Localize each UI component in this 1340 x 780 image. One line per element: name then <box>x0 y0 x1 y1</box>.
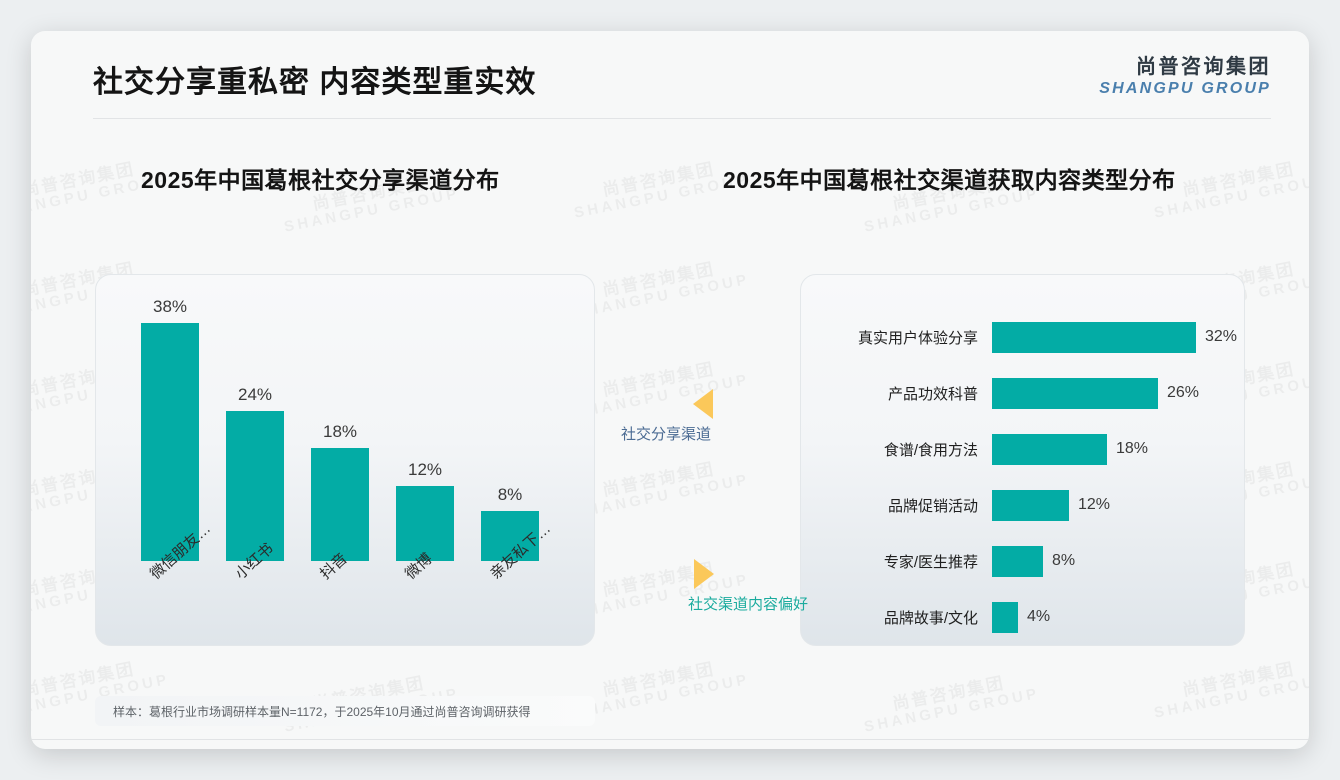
watermark-text: 尚普咨询集团SHANGPU GROUP <box>569 254 751 321</box>
vertical-bar <box>396 486 454 561</box>
bar-value-label: 12% <box>1078 496 1110 514</box>
horizontal-bar <box>992 322 1196 353</box>
horizontal-bar-row: 品牌促销活动12% <box>800 486 1245 524</box>
right-bar-chart: 真实用户体验分享32%产品功效科普26%食谱/食用方法18%品牌促销活动12%专… <box>800 274 1245 646</box>
bar-value-label: 8% <box>1052 552 1075 570</box>
annotation-content-preference: 社交渠道内容偏好 <box>688 559 808 614</box>
horizontal-bar-row: 专家/医生推荐8% <box>800 542 1245 580</box>
right-chart-title: 2025年中国葛根社交渠道获取内容类型分布 <box>723 161 1176 195</box>
annotation-label-2: 社交渠道内容偏好 <box>688 593 808 614</box>
vertical-bar <box>311 448 369 561</box>
horizontal-bar-row: 真实用户体验分享32% <box>800 318 1245 356</box>
bar-value-label: 4% <box>1027 608 1050 626</box>
vertical-bar <box>226 411 284 561</box>
watermark-text: 尚普咨询集团SHANGPU GROUP <box>569 654 751 721</box>
vertical-bar-group: 24% <box>226 385 284 561</box>
bar-value-label: 26% <box>1167 384 1199 402</box>
bar-value-label: 24% <box>238 385 272 405</box>
vertical-bar <box>141 323 199 561</box>
bar-value-label: 8% <box>498 485 523 505</box>
bar-value-label: 18% <box>1116 440 1148 458</box>
watermark-text: 尚普咨询集团SHANGPU GROUP <box>859 668 1041 735</box>
left-chart-title: 2025年中国葛根社交分享渠道分布 <box>141 161 500 195</box>
brand-logo: 尚普咨询集团 SHANGPU GROUP <box>1099 55 1271 100</box>
left-bar-chart: 38%微信朋友…24%小红书18%抖音12%微博8%亲友私下… <box>95 274 595 646</box>
category-label: 专家/医生推荐 <box>800 551 992 572</box>
vertical-bar-group: 18% <box>311 422 369 561</box>
triangle-left-icon <box>693 389 713 419</box>
sample-footnote: 样本：葛根行业市场调研样本量N=1172，于2025年10月通过尚普咨询调研获得 <box>95 696 595 726</box>
horizontal-bar-row: 品牌故事/文化4% <box>800 598 1245 636</box>
category-label: 品牌促销活动 <box>800 495 992 516</box>
horizontal-bar-row: 食谱/食用方法18% <box>800 430 1245 468</box>
slide-footer: ©2025.12 SHANGPU GROUP www.shangpu-china… <box>31 740 1309 749</box>
page-title: 社交分享重私密 内容类型重实效 <box>93 57 536 101</box>
vertical-bar-group: 12% <box>396 460 454 561</box>
slide-header: 社交分享重私密 内容类型重实效 尚普咨询集团 SHANGPU GROUP <box>31 31 1309 118</box>
annotation-label-1: 社交分享渠道 <box>621 423 713 444</box>
triangle-right-icon <box>694 559 714 589</box>
watermark-text: 尚普咨询集团SHANGPU GROUP <box>569 454 751 521</box>
logo-english-text: SHANGPU GROUP <box>1099 79 1271 100</box>
bar-value-label: 38% <box>153 297 187 317</box>
bar-value-label: 12% <box>408 460 442 480</box>
horizontal-bar <box>992 378 1158 409</box>
slide-canvas: 尚普咨询集团SHANGPU GROUP尚普咨询集团SHANGPU GROUP尚普… <box>31 31 1309 749</box>
category-label: 食谱/食用方法 <box>800 439 992 460</box>
header-divider <box>93 118 1271 119</box>
watermark-text: 尚普咨询集团SHANGPU GROUP <box>1149 654 1309 721</box>
annotation-social-share-channel: 社交分享渠道 <box>621 389 713 444</box>
horizontal-bar <box>992 490 1069 521</box>
horizontal-bar-row: 产品功效科普26% <box>800 374 1245 412</box>
horizontal-bar <box>992 602 1018 633</box>
logo-chinese-text: 尚普咨询集团 <box>1099 55 1271 79</box>
horizontal-bar <box>992 546 1043 577</box>
bar-value-label: 18% <box>323 422 357 442</box>
vertical-bar-group: 38% <box>141 297 199 561</box>
category-label: 真实用户体验分享 <box>800 327 992 348</box>
category-label: 品牌故事/文化 <box>800 607 992 628</box>
category-label: 产品功效科普 <box>800 383 992 404</box>
horizontal-bar <box>992 434 1107 465</box>
bar-value-label: 32% <box>1205 328 1237 346</box>
